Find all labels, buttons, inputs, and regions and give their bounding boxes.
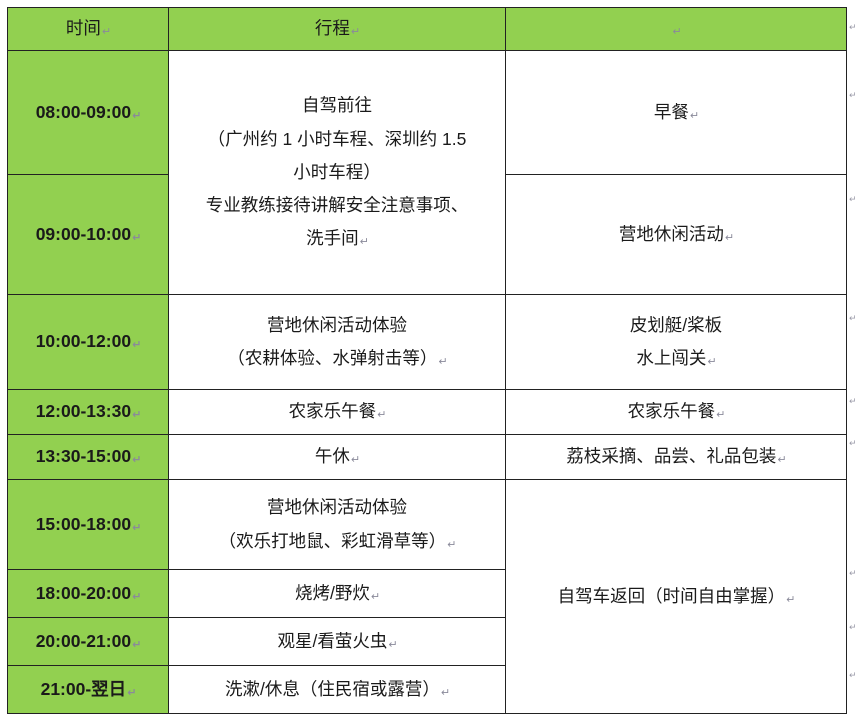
time-cell: 13:30-15:00↵: [8, 435, 169, 480]
paragraph-mark-icon: ↵: [716, 408, 725, 421]
time-label: 20:00-21:00: [36, 631, 131, 651]
extra-cell: 自驾车返回（时间自由掌握）↵: [506, 480, 847, 714]
paragraph-mark-icon: ↵: [441, 686, 450, 699]
paragraph-mark-icon: ↵: [127, 686, 136, 699]
paragraph-mark-icon: ↵: [351, 25, 360, 38]
itinerary-cell: 午休↵: [169, 435, 506, 480]
paragraph-mark-icon: ↵: [849, 315, 855, 324]
extra-line: 营地休闲活动↵: [510, 218, 842, 251]
itinerary-line: （农耕体验、水弹射击等）↵: [173, 342, 501, 375]
itinerary-line: 午休↵: [173, 440, 501, 473]
time-cell: 21:00-翌日↵: [8, 666, 169, 714]
extra-line: 皮划艇/桨板: [510, 309, 842, 342]
table-header-row: 时间↵行程↵↵: [8, 8, 847, 51]
extra-line: 水上闯关↵: [510, 342, 842, 375]
table-row: 15:00-18:00↵营地休闲活动体验（欢乐打地鼠、彩虹滑草等）↵自驾车返回（…: [8, 480, 847, 570]
paragraph-mark-icon: ↵: [377, 408, 386, 421]
paragraph-mark-icon: ↵: [777, 453, 786, 466]
time-cell: 20:00-21:00↵: [8, 618, 169, 666]
paragraph-mark-icon: ↵: [102, 25, 111, 38]
time-label: 13:30-15:00: [36, 446, 131, 466]
paragraph-mark-icon: ↵: [132, 231, 141, 244]
table-row: 12:00-13:30↵农家乐午餐↵农家乐午餐↵: [8, 390, 847, 435]
paragraph-mark-icon: ↵: [360, 235, 369, 248]
paragraph-mark-icon: ↵: [849, 624, 855, 633]
time-cell: 15:00-18:00↵: [8, 480, 169, 570]
header-cell-time: 时间↵: [8, 8, 169, 51]
paragraph-mark-icon: ↵: [690, 109, 699, 122]
paragraph-mark-icon: ↵: [447, 538, 456, 551]
paragraph-mark-icon: ↵: [672, 25, 681, 38]
paragraph-mark-icon: ↵: [132, 109, 141, 122]
paragraph-mark-icon: ↵: [438, 355, 447, 368]
table-body: 时间↵行程↵↵08:00-09:00↵自驾前往（广州约 1 小时车程、深圳约 1…: [8, 8, 847, 714]
extra-cell: 农家乐午餐↵: [506, 390, 847, 435]
itinerary-cell: 营地休闲活动体验（欢乐打地鼠、彩虹滑草等）↵: [169, 480, 506, 570]
paragraph-mark-icon: ↵: [132, 453, 141, 466]
header-cell-extra: ↵: [506, 8, 847, 51]
itinerary-cell: 观星/看萤火虫↵: [169, 618, 506, 666]
itinerary-cell: 自驾前往（广州约 1 小时车程、深圳约 1.5小时车程）专业教练接待讲解安全注意…: [169, 51, 506, 295]
paragraph-mark-icon: ↵: [132, 408, 141, 421]
time-label: 10:00-12:00: [36, 331, 131, 351]
paragraph-mark-icon: ↵: [371, 590, 380, 603]
paragraph-mark-icon: ↵: [388, 638, 397, 651]
time-cell: 10:00-12:00↵: [8, 295, 169, 390]
extra-cell: 早餐↵: [506, 51, 847, 175]
itinerary-line: 营地休闲活动体验: [173, 491, 501, 524]
header-label: 行程: [315, 18, 350, 38]
time-cell: 12:00-13:30↵: [8, 390, 169, 435]
paragraph-mark-icon: ↵: [786, 593, 795, 606]
itinerary-cell: 烧烤/野炊↵: [169, 570, 506, 618]
header-cell-itinerary: 行程↵: [169, 8, 506, 51]
extra-line: 自驾车返回（时间自由掌握）↵: [510, 580, 842, 613]
time-label: 18:00-20:00: [36, 583, 131, 603]
table-row: 10:00-12:00↵营地休闲活动体验（农耕体验、水弹射击等）↵皮划艇/桨板水…: [8, 295, 847, 390]
extra-line: 农家乐午餐↵: [510, 395, 842, 428]
table-row: 08:00-09:00↵自驾前往（广州约 1 小时车程、深圳约 1.5小时车程）…: [8, 51, 847, 175]
extra-cell: 皮划艇/桨板水上闯关↵: [506, 295, 847, 390]
time-cell: 18:00-20:00↵: [8, 570, 169, 618]
paragraph-mark-icon: ↵: [849, 196, 855, 205]
itinerary-line: 自驾前往: [173, 89, 501, 122]
time-label: 09:00-10:00: [36, 224, 131, 244]
itinerary-cell: 洗漱/休息（住民宿或露营）↵: [169, 666, 506, 714]
paragraph-mark-icon: ↵: [351, 453, 360, 466]
paragraph-mark-icon: ↵: [849, 92, 855, 101]
table-row: 13:30-15:00↵午休↵荔枝采摘、品尝、礼品包装↵: [8, 435, 847, 480]
time-label: 15:00-18:00: [36, 514, 131, 534]
paragraph-mark-icon: ↵: [849, 398, 855, 407]
itinerary-line: 小时车程）: [173, 156, 501, 189]
paragraph-mark-icon: ↵: [849, 570, 855, 579]
time-cell: 08:00-09:00↵: [8, 51, 169, 175]
itinerary-table: 时间↵行程↵↵08:00-09:00↵自驾前往（广州约 1 小时车程、深圳约 1…: [7, 7, 847, 714]
itinerary-line: 洗手间↵: [173, 222, 501, 255]
paragraph-mark-icon: ↵: [132, 638, 141, 651]
itinerary-line: 观星/看萤火虫↵: [173, 625, 501, 658]
itinerary-cell: 农家乐午餐↵: [169, 390, 506, 435]
paragraph-mark-icon: ↵: [725, 231, 734, 244]
itinerary-line: （广州约 1 小时车程、深圳约 1.5: [173, 123, 501, 156]
extra-cell: 荔枝采摘、品尝、礼品包装↵: [506, 435, 847, 480]
paragraph-mark-icon: ↵: [707, 355, 716, 368]
paragraph-mark-icon: ↵: [849, 440, 855, 449]
itinerary-line: 专业教练接待讲解安全注意事项、: [173, 189, 501, 222]
time-cell: 09:00-10:00↵: [8, 175, 169, 295]
paragraph-mark-icon: ↵: [849, 672, 855, 681]
time-label: 08:00-09:00: [36, 102, 131, 122]
time-label: 21:00-翌日: [41, 679, 127, 699]
header-label: 时间: [66, 18, 101, 38]
paragraph-mark-icon: ↵: [132, 338, 141, 351]
extra-line: 荔枝采摘、品尝、礼品包装↵: [510, 440, 842, 473]
extra-cell: 营地休闲活动↵: [506, 175, 847, 295]
itinerary-line: 烧烤/野炊↵: [173, 577, 501, 610]
paragraph-mark-icon: ↵: [132, 521, 141, 534]
itinerary-cell: 营地休闲活动体验（农耕体验、水弹射击等）↵: [169, 295, 506, 390]
time-label: 12:00-13:30: [36, 401, 131, 421]
paragraph-mark-icon: ↵: [849, 24, 855, 33]
extra-line: 早餐↵: [510, 96, 842, 129]
itinerary-line: 洗漱/休息（住民宿或露营）↵: [173, 673, 501, 706]
itinerary-line: 农家乐午餐↵: [173, 395, 501, 428]
paragraph-mark-icon: ↵: [132, 590, 141, 603]
itinerary-line: （欢乐打地鼠、彩虹滑草等）↵: [173, 525, 501, 558]
document-page: 时间↵行程↵↵08:00-09:00↵自驾前往（广州约 1 小时车程、深圳约 1…: [0, 0, 855, 713]
itinerary-line: 营地休闲活动体验: [173, 309, 501, 342]
